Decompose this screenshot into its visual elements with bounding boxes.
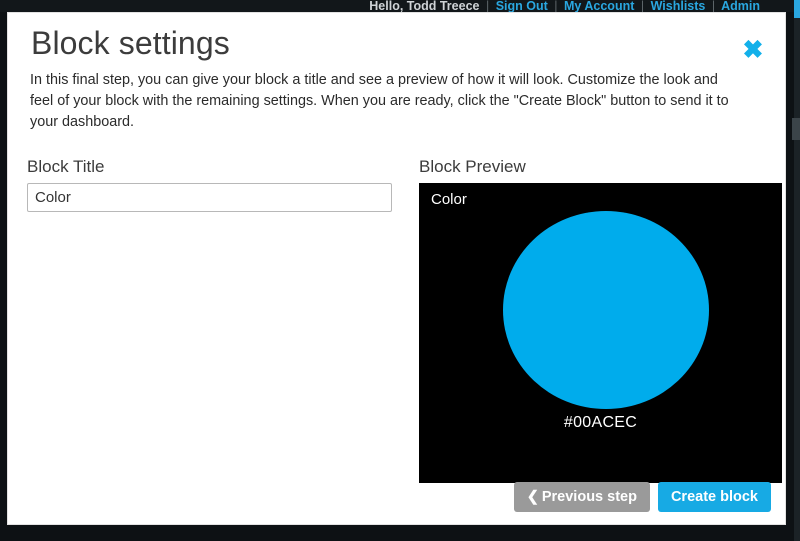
block-title-input[interactable] [27, 183, 392, 212]
page-scroll-arrow[interactable] [792, 118, 800, 140]
modal-description: In this final step, you can give your bl… [8, 62, 785, 133]
create-block-label: Create block [671, 489, 758, 505]
block-settings-modal: ✖ Block settings In this final step, you… [7, 12, 786, 525]
wishlists-link[interactable]: Wishlists [651, 0, 706, 12]
modal-footer: ❮Previous step Create block [514, 482, 771, 513]
admin-link[interactable]: Admin [721, 0, 760, 12]
create-block-button[interactable]: Create block [658, 482, 771, 513]
previous-step-button[interactable]: ❮Previous step [514, 482, 650, 513]
color-hex-value: #00ACEC [419, 414, 782, 432]
page-scrollbar[interactable] [794, 0, 800, 541]
top-utility-bar: Hello, Todd Treece | Sign Out | My Accou… [0, 0, 800, 12]
utility-greeting: Hello, Todd Treece [369, 0, 479, 12]
color-swatch-circle [503, 211, 709, 409]
utility-separator-4: | [709, 0, 718, 12]
page-title: Block settings [8, 13, 785, 62]
utility-separator-1: | [483, 0, 492, 12]
utility-separator-3: | [638, 0, 647, 12]
chevron-left-icon: ❮ [527, 489, 542, 505]
preview-caption: Color [431, 191, 467, 208]
modal-body: Block Title Block Preview Color #00ACEC [8, 133, 785, 483]
block-preview-panel: Color #00ACEC [419, 183, 782, 483]
block-preview-column: Block Preview Color #00ACEC [419, 157, 783, 483]
utility-separator-2: | [551, 0, 560, 12]
block-title-label: Block Title [27, 157, 399, 177]
sign-out-link[interactable]: Sign Out [496, 0, 548, 12]
previous-step-label: Previous step [542, 489, 637, 505]
block-preview-label: Block Preview [419, 157, 783, 177]
close-icon[interactable]: ✖ [740, 37, 766, 63]
block-title-column: Block Title [27, 157, 399, 212]
my-account-link[interactable]: My Account [564, 0, 634, 12]
page-scrollbar-thumb[interactable] [794, 0, 800, 18]
